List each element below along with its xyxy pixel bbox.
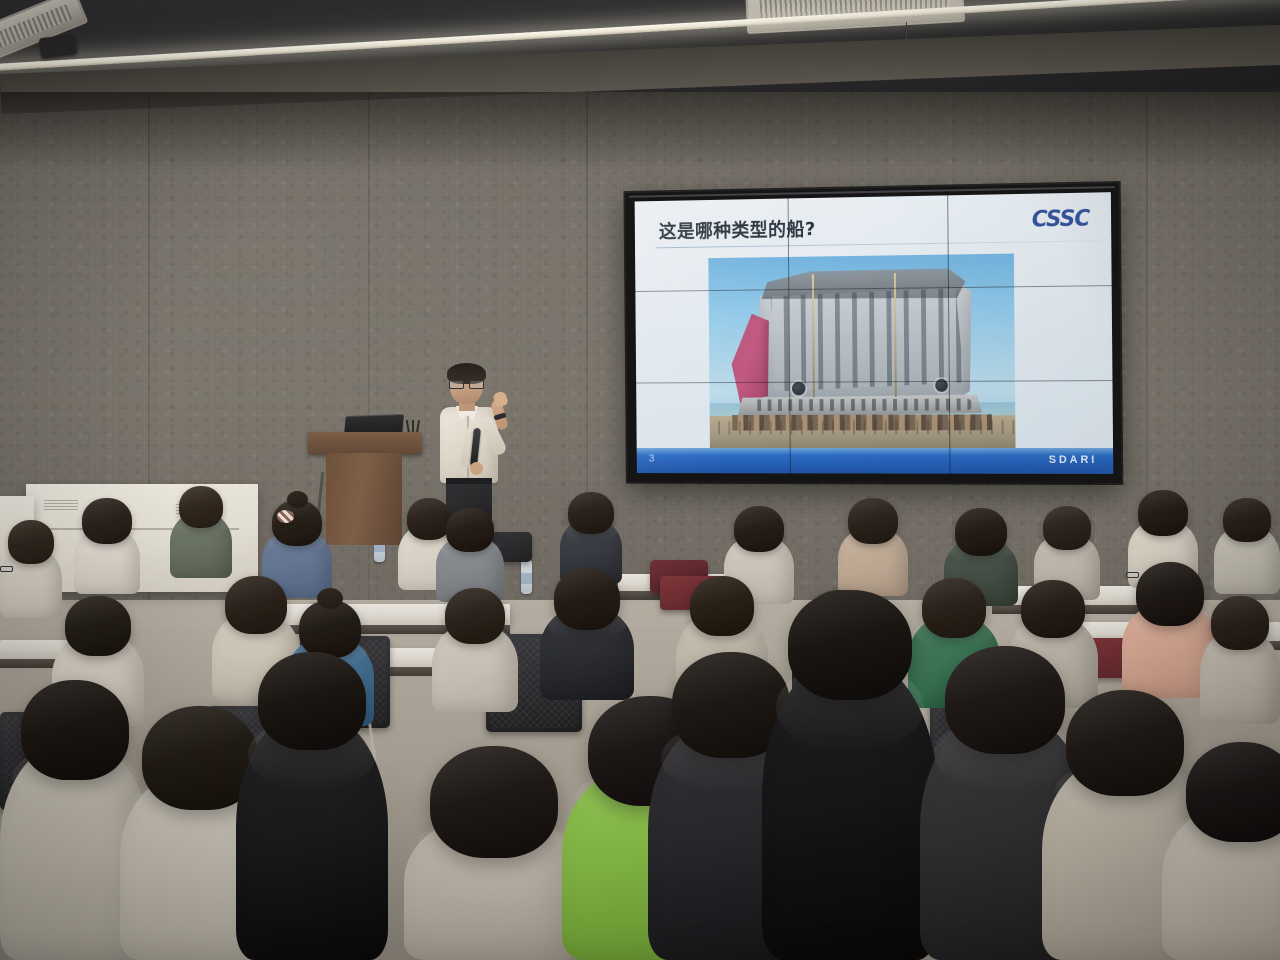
glasses-icon [0,566,13,572]
ship-hull-ribs [767,288,965,392]
audience-torso [762,658,938,960]
screen-surface[interactable]: 这是哪种类型的船? CSSC [635,192,1114,474]
audience-head [430,746,558,858]
podium-body [326,453,402,545]
audience-head [8,520,54,564]
wall-panel-seam [368,92,370,652]
audience-head [1211,596,1269,650]
water-bottle [521,560,532,594]
audience-member [1162,742,1280,960]
hair-bun [287,491,308,508]
audience-member [74,498,140,594]
audience-head [446,508,494,552]
hair-scrunchie [277,510,294,523]
hair-bun [317,588,343,609]
audience-head [690,576,754,636]
pen-holder [408,418,419,433]
ship-antifouling-paint [731,314,769,404]
audience-head [1138,490,1188,536]
slide-photo-ship-hull [708,254,1015,448]
slide-footer-bar: 3 SDARI [637,448,1114,474]
audience-head [554,568,620,630]
audience-member [170,486,232,578]
audience-head [65,596,131,656]
audience-head [445,588,505,644]
audience-member [762,590,938,960]
audience-head [1021,580,1085,638]
audience-member [432,588,518,712]
audience-head [179,486,223,528]
audience-member [540,568,634,700]
audience-head [1043,506,1091,550]
wall-shadow [0,92,1280,172]
presentation-slide: 这是哪种类型的船? CSSC [635,192,1114,474]
audience-head [21,680,129,780]
podium-top-surface [308,432,422,454]
audience-head [1136,562,1204,626]
cssc-logo: CSSC [1032,207,1090,233]
ship-hull-openings [751,399,973,412]
sdari-brand-label: SDARI [1049,454,1098,466]
audience-member [1200,596,1280,724]
audience-head [225,576,287,634]
audience-head [568,492,614,534]
glasses-icon [1126,572,1139,578]
presenter-mic-hand [470,462,483,475]
audience-member [838,498,908,596]
video-wall-display[interactable]: 这是哪种类型的船? CSSC [625,183,1121,483]
slide-title: 这是哪种类型的船? [659,215,816,244]
audience-head [1223,498,1271,542]
audience-head [1186,742,1280,842]
glasses-icon [449,380,484,387]
slide-page-number: 3 [649,453,655,465]
hull-porthole [792,382,805,396]
photo-workers [710,420,1016,434]
cabinet-vent [44,500,78,510]
audience-head [82,498,132,544]
audience-head [258,652,366,750]
presenter-pointing-hand [493,391,509,407]
audience-member [236,652,388,960]
audience-head [848,498,898,544]
presenter-belt [446,478,492,484]
audience-member [1214,498,1280,594]
audience-head [734,506,784,552]
audience-head [788,590,912,700]
audience-head [955,508,1007,556]
audience-member [404,746,584,960]
lecture-hall-scene: 这是哪种类型的船? CSSC [0,0,1280,960]
